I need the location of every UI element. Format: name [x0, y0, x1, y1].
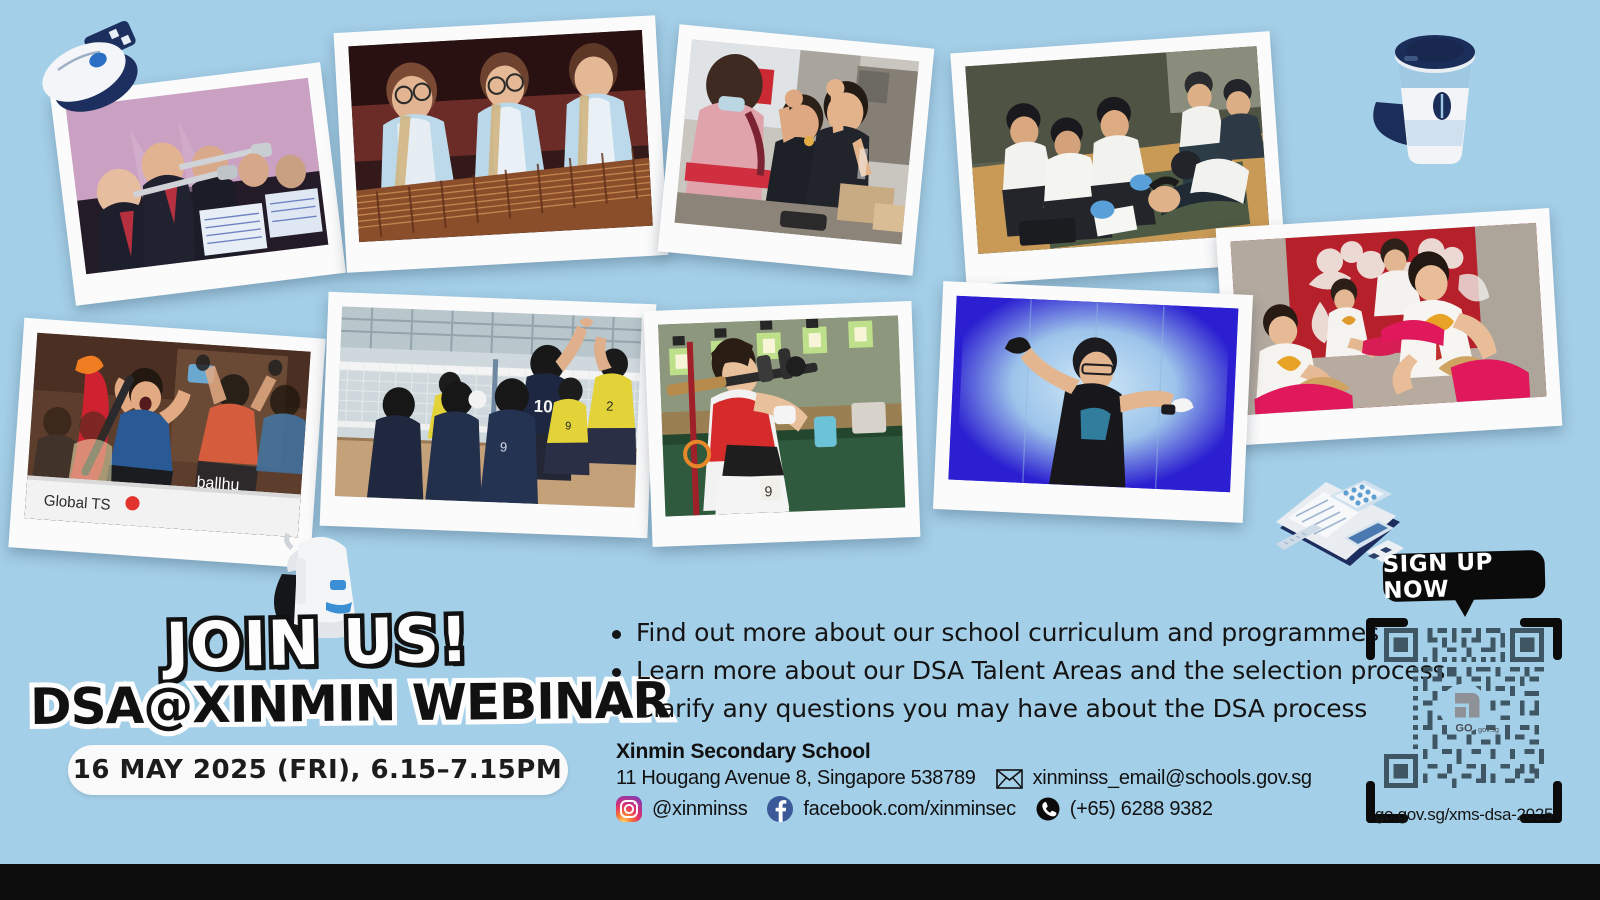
photo-volleyball: 10 2 9	[320, 292, 657, 538]
computer-mouse-icon	[26, 14, 146, 114]
photo-air-rifle: 9	[644, 301, 921, 547]
event-date-pill: 16 MAY 2025 (FRI), 6.15–7.15PM	[68, 745, 568, 795]
contact-row-address-email: 11 Hougang Avenue 8, Singapore 538789 xi…	[616, 767, 1312, 790]
list-item: Clarify any questions you may have about…	[606, 690, 1346, 728]
instagram-icon[interactable]	[616, 796, 642, 822]
photo-art	[965, 46, 1269, 254]
bottom-bar	[0, 864, 1600, 900]
sign-up-now-badge[interactable]: SIGN UP NOW	[1382, 550, 1545, 602]
photo-art: 9	[658, 315, 905, 516]
svg-text:9: 9	[565, 420, 572, 432]
photo-community-service	[658, 24, 935, 275]
contact-block: Xinmin Secondary School 11 Hougang Avenu…	[616, 740, 1312, 822]
photo-chinese-orchestra	[334, 15, 669, 273]
qr-scan-frame: GO gov.sg go.gov.sg/xms-dsa-2025	[1366, 618, 1562, 823]
svg-text:gov.sg: gov.sg	[1478, 725, 1499, 734]
benefits-list: Find out more about our school curriculu…	[606, 614, 1346, 728]
qr-url-label: go.gov.sg/xms-dsa-2025	[1366, 805, 1562, 825]
qr-code[interactable]: GO gov.sg	[1384, 628, 1544, 788]
school-name: Xinmin Secondary School	[616, 740, 1312, 764]
svg-text:9: 9	[764, 483, 773, 499]
list-item: Learn more about our DSA Talent Areas an…	[606, 652, 1346, 690]
phone-number: (+65) 6288 9382	[1070, 798, 1213, 821]
poster-canvas: Global TS ballhu	[0, 0, 1600, 900]
signup-section: SIGN UP NOW	[1338, 552, 1590, 823]
svg-text:10: 10	[533, 396, 553, 417]
photo-art	[948, 296, 1238, 493]
headline-block: JOIN US! DSA@XINMIN WEBINAR 16 MAY 2025 …	[30, 612, 605, 795]
photo-art	[1230, 223, 1546, 415]
mail-icon	[996, 769, 1023, 789]
coffee-cup-icon	[1358, 16, 1488, 166]
photo-art	[674, 40, 919, 245]
svg-text:9: 9	[500, 439, 508, 454]
join-us-title: JOIN US!	[29, 606, 605, 680]
facebook-icon[interactable]	[767, 796, 793, 822]
photo-art	[348, 30, 652, 242]
sign-up-now-label: SIGN UP NOW	[1382, 548, 1545, 604]
photo-chinese-dance-a	[1216, 208, 1563, 446]
svg-text:ballhu: ballhu	[196, 473, 240, 494]
instagram-handle[interactable]: @xinminss	[652, 798, 747, 821]
facebook-page[interactable]: facebook.com/xinminsec	[803, 798, 1015, 821]
photo-art: Global TS ballhu	[24, 333, 310, 538]
school-email[interactable]: xinminss_email@schools.gov.sg	[1033, 767, 1312, 790]
photo-stage-performer	[933, 281, 1253, 523]
phone-icon	[1036, 797, 1060, 821]
webinar-title: DSA@XINMIN WEBINAR	[30, 675, 606, 734]
svg-text:2: 2	[606, 398, 614, 413]
list-item: Find out more about our school curriculu…	[606, 614, 1346, 652]
svg-text:GO: GO	[1455, 722, 1473, 734]
school-address: 11 Hougang Avenue 8, Singapore 538789	[616, 767, 976, 790]
contact-row-social: @xinminss facebook.com/xinminsec (+65) 6…	[616, 796, 1312, 822]
photo-art: 10 2 9	[335, 306, 642, 507]
